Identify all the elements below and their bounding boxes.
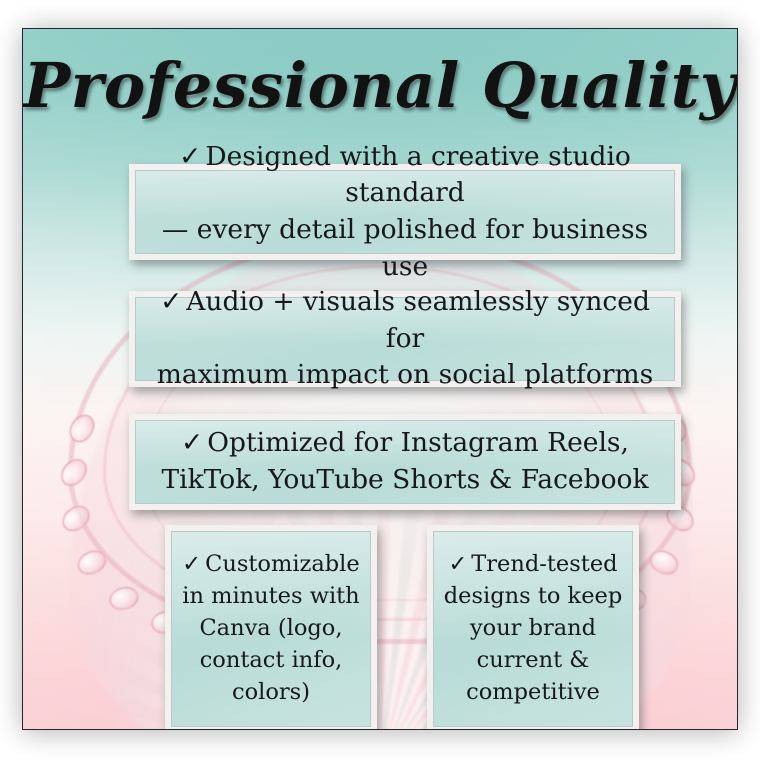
jewel-icon	[57, 500, 95, 537]
jewel-icon	[106, 583, 141, 613]
feature-line: maximum impact on social platforms	[157, 359, 653, 390]
poster-canvas: Professional Quality ✓Designed with a cr…	[22, 28, 738, 730]
feature-line: Designed with a creative studio standard	[205, 141, 631, 209]
feature-box-5: ✓Trend-tested designs to keep your brand…	[427, 525, 639, 730]
feature-line: Audio + visuals seamlessly synced for	[186, 286, 650, 354]
jewel-icon	[56, 454, 93, 492]
feature-line: contact info,	[200, 647, 343, 673]
check-icon: ✓	[181, 427, 207, 458]
feature-box-5-text: ✓Trend-tested designs to keep your brand…	[436, 549, 630, 709]
feature-box-3: ✓Optimized for Instagram Reels, TikTok, …	[129, 414, 681, 510]
feature-line: Trend-tested	[471, 551, 617, 577]
page-title: Professional Quality	[23, 55, 737, 117]
feature-line: Customizable	[205, 551, 360, 577]
feature-line: current &	[477, 647, 590, 673]
check-icon: ✓	[179, 141, 205, 172]
check-icon: ✓	[182, 551, 205, 577]
check-icon: ✓	[448, 551, 471, 577]
feature-line: TikTok, YouTube Shorts & Facebook	[161, 464, 648, 495]
feature-line: Canva (logo,	[199, 615, 342, 641]
check-icon: ✓	[160, 286, 186, 317]
feature-line: designs to keep	[444, 583, 622, 609]
feature-box-2-inner: ✓Audio + visuals seamlessly synced for m…	[135, 297, 675, 381]
jewel-icon	[645, 546, 682, 580]
feature-line: — every detail polished for business use	[162, 214, 648, 282]
feature-line: in minutes with	[182, 583, 359, 609]
feature-box-1: ✓Designed with a creative studio standar…	[129, 164, 681, 260]
poster-page: Professional Quality ✓Designed with a cr…	[0, 0, 760, 760]
feature-box-4-inner: ✓Customizable in minutes with Canva (log…	[171, 531, 371, 727]
feature-box-4: ✓Customizable in minutes with Canva (log…	[165, 525, 377, 730]
feature-line: competitive	[466, 679, 600, 705]
feature-box-2-text: ✓Audio + visuals seamlessly synced for m…	[136, 284, 674, 394]
feature-box-4-text: ✓Customizable in minutes with Canva (log…	[174, 549, 367, 709]
feature-line: colors)	[232, 679, 310, 705]
feature-box-1-inner: ✓Designed with a creative studio standar…	[135, 170, 675, 254]
feature-line: Optimized for Instagram Reels,	[207, 427, 629, 458]
feature-box-3-inner: ✓Optimized for Instagram Reels, TikTok, …	[135, 420, 675, 504]
feature-box-5-inner: ✓Trend-tested designs to keep your brand…	[433, 531, 633, 727]
jewel-icon	[64, 410, 99, 448]
jewel-icon	[73, 546, 110, 580]
feature-box-2: ✓Audio + visuals seamlessly synced for m…	[129, 291, 681, 387]
feature-line: your brand	[470, 615, 596, 641]
feature-box-1-text: ✓Designed with a creative studio standar…	[136, 139, 674, 285]
feature-box-3-text: ✓Optimized for Instagram Reels, TikTok, …	[153, 425, 656, 498]
